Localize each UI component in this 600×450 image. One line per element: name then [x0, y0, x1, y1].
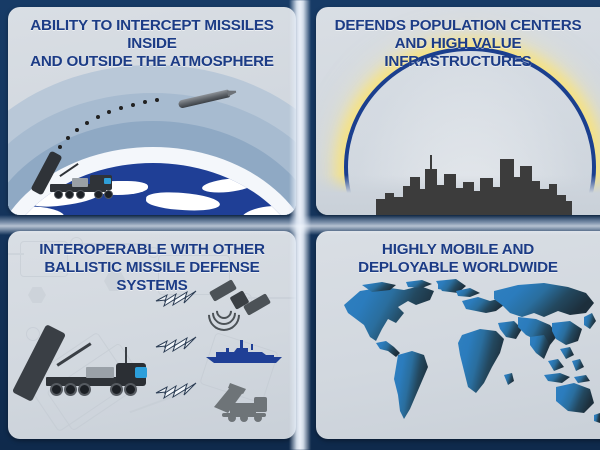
panel-title-intercept: ABILITY TO INTERCEPT MISSILES INSIDE AND…	[8, 17, 296, 71]
world-map	[338, 279, 600, 427]
radar-truck-icon	[24, 331, 164, 401]
signal-bolt-icon-3	[154, 381, 198, 401]
infographic-root: ABILITY TO INTERCEPT MISSILES INSIDE AND…	[0, 0, 600, 450]
missile-launcher-icon	[210, 377, 276, 423]
panel-interoperable[interactable]: INTEROPERABLE WITH OTHER BALLISTIC MISSI…	[8, 231, 296, 439]
city-skyline-icon	[376, 137, 572, 215]
naval-ship-icon	[204, 339, 284, 365]
panel-gutter-horizontal	[0, 215, 600, 235]
panel-title-defends: DEFENDS POPULATION CENTERS AND HIGH VALU…	[316, 17, 600, 71]
panel-title-mobile: HIGHLY MOBILE AND DEPLOYABLE WORLDWIDE	[316, 241, 600, 277]
panel-defends[interactable]: DEFENDS POPULATION CENTERS AND HIGH VALU…	[316, 7, 600, 215]
panel-mobile[interactable]: HIGHLY MOBILE AND DEPLOYABLE WORLDWIDE	[316, 231, 600, 439]
panel-intercept[interactable]: ABILITY TO INTERCEPT MISSILES INSIDE AND…	[8, 7, 296, 215]
launcher-vehicle-icon	[44, 157, 122, 201]
signal-bolt-icon-2	[154, 335, 198, 355]
panel-title-interoperable: INTEROPERABLE WITH OTHER BALLISTIC MISSI…	[8, 241, 296, 295]
